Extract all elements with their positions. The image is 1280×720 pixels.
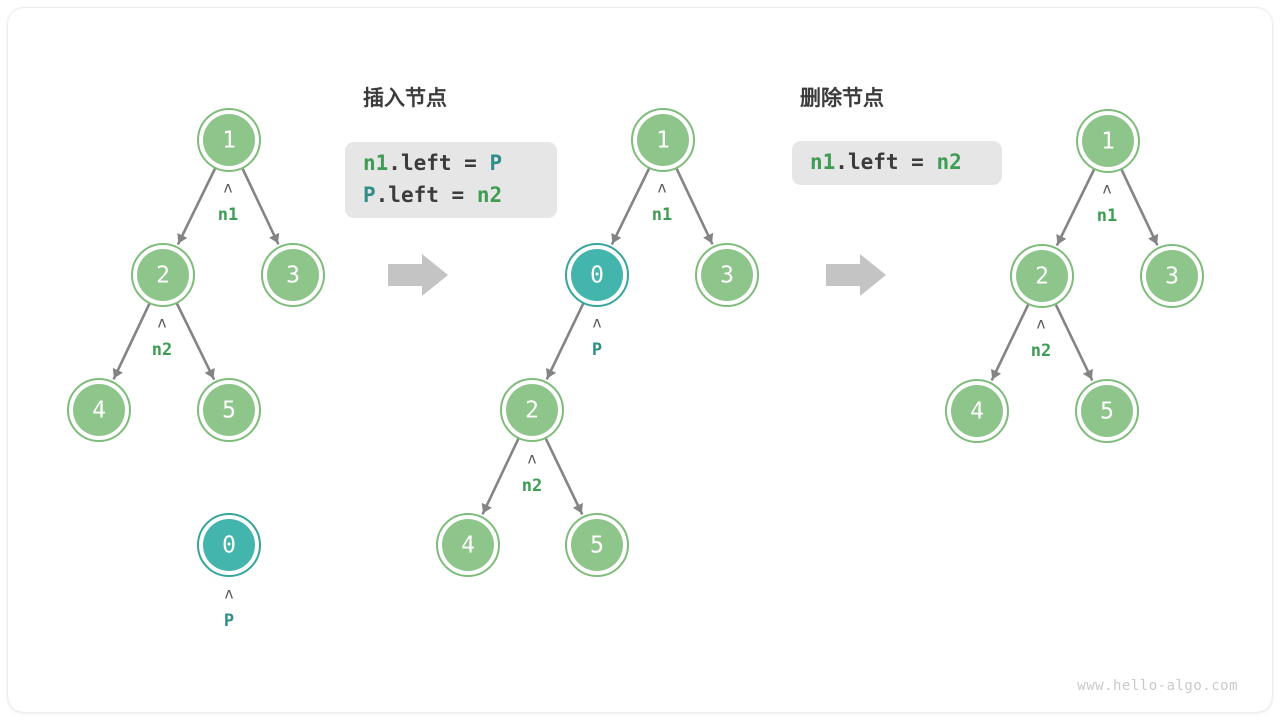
pointer-caret-icon: ʌ xyxy=(1036,315,1045,333)
transition-arrow-delete xyxy=(826,254,886,296)
tree-node-value: 4 xyxy=(92,398,106,424)
tree-edge-line xyxy=(546,439,582,514)
pointer-label: ʌn2 xyxy=(1031,315,1051,362)
tree-edge xyxy=(991,305,1028,380)
binary-tree-insert-delete-diagram: 12345010324512345ʌn1ʌn2ʌPʌn1ʌPʌn2ʌn1ʌn2插… xyxy=(0,0,1280,720)
tree-edge xyxy=(1122,170,1158,244)
tree-node-value: 2 xyxy=(156,263,170,289)
tree-node[interactable]: 5 xyxy=(1076,380,1138,442)
panel-title: 删除节点 xyxy=(800,86,884,110)
tree-node-value: 4 xyxy=(970,399,984,425)
tree-node[interactable]: 0 xyxy=(198,514,260,576)
tree-node-value: 5 xyxy=(590,533,604,559)
tree-node[interactable]: 2 xyxy=(501,379,563,441)
tree-edge xyxy=(1056,305,1093,380)
pointer-caret-icon: ʌ xyxy=(224,585,233,603)
transition-arrow-insert xyxy=(388,254,448,296)
code-token: n2 xyxy=(477,183,502,207)
pointer-label: ʌn2 xyxy=(152,314,172,361)
pointer-label-text: n1 xyxy=(1097,206,1117,226)
tree-node[interactable]: 3 xyxy=(696,244,758,306)
tree-edge-line xyxy=(114,304,149,378)
code-token: P xyxy=(363,183,376,207)
transition-arrows-layer xyxy=(388,254,886,296)
panel-title: 插入节点 xyxy=(363,86,447,110)
pointer-caret-icon: ʌ xyxy=(657,179,666,197)
tree-edge-line xyxy=(992,305,1028,380)
pointer-label-text: P xyxy=(224,611,234,631)
watermark-text: www.hello-algo.com xyxy=(1077,678,1238,694)
panel-titles-layer: 插入节点删除节点 xyxy=(363,86,884,110)
tree-node-value: 0 xyxy=(222,533,236,559)
pointer-caret-icon: ʌ xyxy=(592,314,601,332)
tree-node-value: 2 xyxy=(1035,264,1049,290)
tree-node[interactable]: 1 xyxy=(632,109,694,171)
tree-node-value: 0 xyxy=(590,263,604,289)
pointer-label-text: n2 xyxy=(1031,341,1051,361)
pointer-caret-icon: ʌ xyxy=(1102,180,1111,198)
tree-node[interactable]: 5 xyxy=(198,379,260,441)
tree-node[interactable]: 4 xyxy=(437,514,499,576)
tree-edges-layer xyxy=(113,169,1158,514)
tree-node-value: 1 xyxy=(1101,129,1115,155)
code-token: .left = xyxy=(835,150,936,174)
tree-edge xyxy=(677,169,713,243)
tree-node-value: 4 xyxy=(461,533,475,559)
tree-node[interactable]: 4 xyxy=(68,379,130,441)
pointer-caret-icon: ʌ xyxy=(527,450,536,468)
tree-edge-line xyxy=(177,304,214,379)
tree-node-value: 1 xyxy=(656,128,670,154)
delete-code-box: n1.left = n2 xyxy=(792,141,1002,185)
tree-edge xyxy=(611,169,649,244)
tree-node-value: 3 xyxy=(720,263,734,289)
tree-node[interactable]: 1 xyxy=(1077,110,1139,172)
tree-edge xyxy=(546,304,583,379)
tree-edge xyxy=(177,169,215,244)
tree-edge xyxy=(482,439,518,513)
pointer-label: ʌP xyxy=(592,314,602,361)
tree-edge-line xyxy=(483,439,518,513)
pointer-caret-icon: ʌ xyxy=(157,314,166,332)
tree-edge xyxy=(546,439,583,514)
tree-edge xyxy=(177,304,215,379)
pointer-label: ʌn1 xyxy=(1097,180,1117,227)
tree-node[interactable]: 2 xyxy=(1011,245,1073,307)
code-line: P.left = n2 xyxy=(363,183,502,207)
tree-edge-line xyxy=(1122,170,1157,244)
pointer-label: ʌn2 xyxy=(522,450,542,497)
tree-node-value: 5 xyxy=(1100,399,1114,425)
code-line: n1.left = n2 xyxy=(810,150,962,174)
tree-edge-line xyxy=(547,304,583,379)
tree-node[interactable]: 5 xyxy=(566,514,628,576)
tree-node-value: 1 xyxy=(222,128,236,154)
code-token: n1 xyxy=(363,151,388,175)
pointer-label-text: n2 xyxy=(522,476,542,496)
tree-node[interactable]: 3 xyxy=(262,244,324,306)
code-token: .left = xyxy=(376,183,477,207)
tree-node[interactable]: 4 xyxy=(946,380,1008,442)
pointer-label-text: P xyxy=(592,340,602,360)
pointer-label-text: n1 xyxy=(218,205,238,225)
code-token: n1 xyxy=(810,150,835,174)
code-token: P xyxy=(489,151,502,175)
pointer-label-text: n2 xyxy=(152,340,172,360)
tree-edge-line xyxy=(178,169,215,244)
tree-edge xyxy=(243,169,279,243)
code-token: .left = xyxy=(388,151,489,175)
tree-edge-line xyxy=(612,169,649,244)
tree-edge-line xyxy=(243,169,278,243)
tree-node[interactable]: 2 xyxy=(132,244,194,306)
tree-node-value: 3 xyxy=(286,263,300,289)
tree-edge xyxy=(1056,170,1094,245)
tree-node-value: 5 xyxy=(222,398,236,424)
tree-edge-line xyxy=(1056,305,1092,380)
watermark-layer: www.hello-algo.com xyxy=(1077,678,1238,694)
tree-node[interactable]: 3 xyxy=(1141,245,1203,307)
tree-node[interactable]: 0 xyxy=(566,244,628,306)
pointer-label: ʌn1 xyxy=(218,179,238,226)
pointer-label-text: n1 xyxy=(652,205,672,225)
tree-edge xyxy=(113,304,149,378)
tree-node-value: 2 xyxy=(525,398,539,424)
tree-node[interactable]: 1 xyxy=(198,109,260,171)
insert-code-box: n1.left = PP.left = n2 xyxy=(345,142,557,218)
code-line: n1.left = P xyxy=(363,151,502,175)
pointer-caret-icon: ʌ xyxy=(223,179,232,197)
tree-edge-line xyxy=(1057,170,1094,245)
pointer-label: ʌP xyxy=(224,585,234,632)
pointer-label: ʌn1 xyxy=(652,179,672,226)
code-token: n2 xyxy=(936,150,961,174)
tree-edge-line xyxy=(677,169,712,243)
figure-stage: 12345010324512345ʌn1ʌn2ʌPʌn1ʌPʌn2ʌn1ʌn2插… xyxy=(0,0,1280,720)
tree-node-value: 3 xyxy=(1165,264,1179,290)
